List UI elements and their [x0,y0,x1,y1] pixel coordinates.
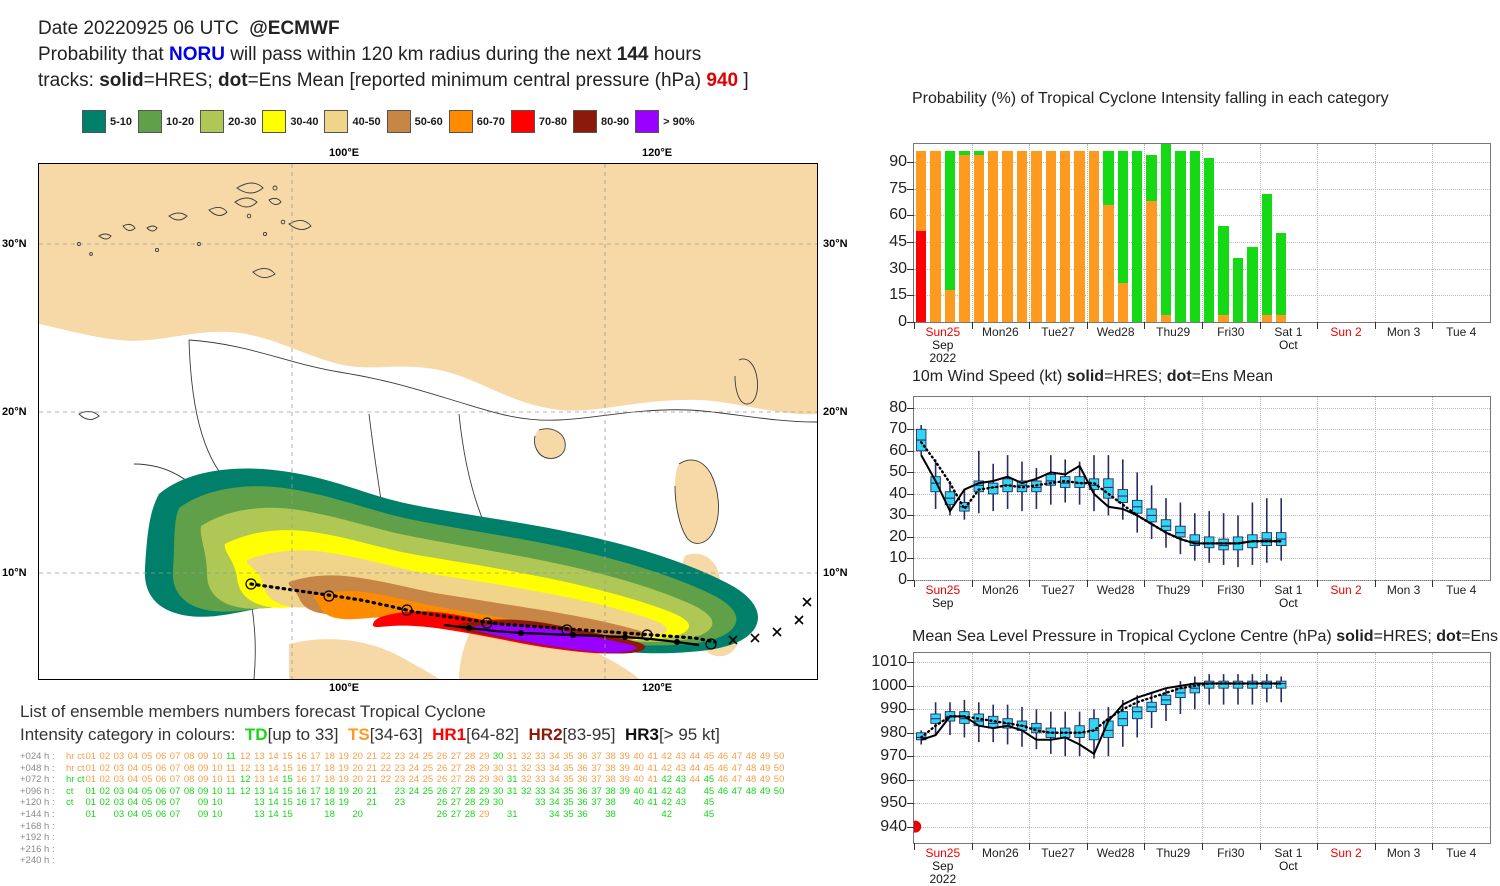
ens-member: 49 [760,763,774,775]
ens-row: +144 h :01 0304050607 0910 131415 18 20 … [20,809,870,821]
color-key-label: 50-60 [415,116,443,128]
ens-member: 46 [718,763,732,775]
ens-member: 46 [718,786,732,798]
y-axis-tick: 950 [880,794,907,812]
ens-row-label: +168 h : [20,821,66,833]
y-axis-tick: 10 [889,549,907,567]
probability-segment-ts [945,290,955,322]
probability-bar[interactable] [1074,144,1084,322]
ens-member: 27 [451,774,465,786]
mslp-plot[interactable]: 94095096097098099010001010Sun25Sep2022Mo… [913,652,1491,844]
ens-member: 31 [507,751,521,763]
ens-member [226,809,240,821]
probability-segment-ts [1046,151,1056,322]
x-axis-tick: Tue27 [1041,847,1075,860]
ens-cat-hr1: HR1[64-82] [427,725,523,744]
ens-member: 06 [156,809,170,821]
ens-member [380,809,394,821]
ens-member: 10 [212,751,226,763]
c2-series-layer [914,397,1490,580]
ens-member: 42 [661,774,675,786]
ens-member: 12 [240,786,254,798]
ens-member: 14 [268,763,282,775]
y-axis-tickmark [907,189,914,190]
ens-member: 09 [198,797,212,809]
ens-member: 45 [704,763,718,775]
color-key-item-50-60: 50-60 [387,110,443,133]
ens-member [690,786,704,798]
ens-member: 33 [535,774,549,786]
probability-bar[interactable] [1190,144,1200,322]
probability-bar[interactable] [1247,144,1257,322]
probability-segment-td [1161,144,1171,315]
ens-control-label: ct [66,786,86,798]
probability-bar[interactable] [1146,144,1156,322]
ens-row-label: +096 h : [20,786,66,798]
ens-member: 21 [366,751,380,763]
ens-member: 22 [380,751,394,763]
mslp-title-dot: dot [1436,628,1461,645]
ens-member: 35 [563,786,577,798]
ens-member: 16 [296,797,310,809]
y-axis-tick: 15 [889,286,907,304]
gridline-v [1432,144,1434,322]
x-axis-tick: Sun 2 [1330,847,1361,860]
ens-control-label: hr ct [66,751,86,763]
ens-member: 48 [746,774,760,786]
probability-bar[interactable] [1046,144,1056,322]
x-axis-tickmark [1144,843,1145,850]
x-axis-tick: Sat 1Oct [1274,847,1302,873]
y-axis-tick: 40 [889,485,907,503]
x-axis-tickmark [1260,580,1261,587]
y-axis-tickmark [907,558,914,559]
probability-segment-td [1190,151,1200,322]
color-key-label: > 90% [663,116,695,128]
x-axis-tickmark [1375,580,1376,587]
probability-segment-td [974,151,984,155]
box [1276,681,1286,688]
ens-member: 06 [156,751,170,763]
ens-member [760,809,774,821]
y-axis-tick: 960 [880,771,907,789]
ens-member: 43 [675,763,689,775]
ens-member [409,809,423,821]
ens-member [380,786,394,798]
intensity-probability-plot[interactable]: 0153045607590Sun25Sep2022Mon26Tue27Wed28… [913,143,1491,323]
ens-member: 09 [198,763,212,775]
probability-bar[interactable] [1089,144,1099,322]
x-axis-tick: Tue 4 [1446,847,1476,860]
ens-row-label: +072 h : [20,774,66,786]
y-axis-tick: 70 [889,420,907,438]
ens-member: 42 [661,797,675,809]
y-axis-tickmark [907,494,914,495]
ens-member: 42 [661,763,675,775]
ens-member [521,809,535,821]
x-axis-tick: Thu29 [1156,847,1190,860]
wind-title-end: =Ens Mean [1192,368,1273,385]
probability-segment-ts [1074,151,1084,322]
y-axis-tickmark [907,269,914,270]
ens-member [675,809,689,821]
probability-bar[interactable] [1233,144,1243,322]
probability-bar[interactable] [916,144,926,322]
ens-member: 16 [296,763,310,775]
box [1219,681,1229,688]
probability-bar[interactable] [1118,144,1128,322]
y-axis-tickmark [907,295,914,296]
mslp-title-mid: =HRES; [1374,628,1432,645]
ens-member: 34 [549,763,563,775]
y-axis-tick: 30 [889,506,907,524]
ens-member: 50 [774,774,788,786]
ens-member: 06 [156,774,170,786]
ens-member [619,797,633,809]
color-swatch [138,110,162,133]
ens-member: 40 [633,774,647,786]
ens-member: 20 [352,751,366,763]
ens-member [732,809,746,821]
ens-member [591,809,605,821]
ens-member: 32 [521,763,535,775]
ensemble-member-list: List of ensemble members numbers forecas… [20,700,870,867]
probability-segment-ts [959,155,969,322]
probability-segment-ts [1002,151,1012,322]
strike-probability-map[interactable]: 100°E 120°E 100°E 120°E 30°N 20°N 10°N 3… [38,163,818,680]
ens-member: 08 [184,774,198,786]
probability-bar[interactable] [1218,144,1228,322]
ens-member: 29 [479,774,493,786]
map-canvas [39,164,817,679]
ens-member: 05 [142,751,156,763]
ens-member: 01 [86,786,100,798]
map-lat-label-30n-right: 30°N [823,238,848,250]
ens-member: 03 [114,763,128,775]
y-axis-tickmark [907,408,914,409]
probability-text-c: hours [654,44,702,65]
probability-segment-td [1233,258,1243,322]
probability-bar[interactable] [1262,144,1272,322]
intensity-probability-chart: Probability (%) of Tropical Cyclone Inte… [912,90,1492,110]
ens-member [423,797,437,809]
centre-label: @ECMWF [249,18,339,39]
color-swatch [387,110,411,133]
ens-member: 04 [128,751,142,763]
ens-member: 05 [142,809,156,821]
ens-member: 09 [198,809,212,821]
mslp-title-end: =Ens Mean [1461,628,1500,645]
storm-name: NORU [169,44,225,65]
ens-member: 35 [563,774,577,786]
ens-member: 43 [675,751,689,763]
y-axis-tick: 50 [889,463,907,481]
ens-member: 28 [465,763,479,775]
probability-bar[interactable] [1132,144,1142,322]
ens-member [184,809,198,821]
color-swatch [635,110,659,133]
box [1176,526,1186,537]
ens-member [774,809,788,821]
ens-member: 36 [577,763,591,775]
probability-segment-ts [1103,205,1113,322]
ens-member: 10 [212,797,226,809]
color-key-item-70-80: 70-80 [511,110,567,133]
color-swatch [262,110,286,133]
ens-member: 41 [647,774,661,786]
x-axis-tick: Thu29 [1156,584,1190,597]
ens-member: 29 [479,751,493,763]
ens-member: 23 [395,751,409,763]
ens-mean-line [921,442,1281,543]
x-axis-tickmark [1029,843,1030,850]
wind-speed-plot[interactable]: 01020304050607080Sun25SepMon26Tue27Wed28… [913,396,1491,581]
ens-member: 40 [633,797,647,809]
header-line-tracks: tracks: solid=HRES; dot=Ens Mean [report… [38,68,878,94]
x-axis-tickmark [972,580,973,587]
c3-series-layer [914,653,1490,843]
ens-mean-line [921,683,1281,737]
color-key-item-5-10: 5-10 [82,110,132,133]
probability-bar[interactable] [1276,144,1286,322]
gridline-v [1375,144,1377,322]
map-lat-label-20n-right: 20°N [823,406,848,418]
ens-member: 17 [310,763,324,775]
ens-member: 26 [437,797,451,809]
color-key-label: 20-30 [228,116,256,128]
probability-bar[interactable] [974,144,984,322]
ens-row-label: +216 h : [20,844,66,856]
ens-member: 14 [268,751,282,763]
ens-member: 31 [507,763,521,775]
ens-member: 39 [619,786,633,798]
ens-member [774,797,788,809]
ens-member: 29 [479,786,493,798]
ens-control-label: ct [66,797,86,809]
probability-bar[interactable] [1161,144,1171,322]
ens-member: 17 [310,774,324,786]
ens-member: 03 [114,786,128,798]
probability-text-a: Probability that [38,44,164,65]
y-axis-tickmark [907,215,914,216]
probability-segment-ts [1146,201,1156,322]
color-key-item-60-70: 60-70 [449,110,505,133]
ens-row: +048 h :hr ct010203040506070809101112131… [20,763,870,775]
probability-segment-ts [1017,151,1027,322]
ens-member: 28 [465,786,479,798]
ens-member: 26 [437,763,451,775]
probability-bar[interactable] [1175,144,1185,322]
ens-member: 31 [507,786,521,798]
probability-segment-ts [974,155,984,322]
ens-member: 16 [296,751,310,763]
tracks-text-b: =HRES; [144,70,213,91]
wind-chart-title: 10m Wind Speed (kt) solid=HRES; dot=Ens … [912,368,1500,386]
ens-row: +120 h :ct01020304050607 0910 1314151617… [20,797,870,809]
ens-member: 01 [86,763,100,775]
y-axis-tickmark [907,429,914,430]
ens-member: 04 [128,809,142,821]
ens-member [507,797,521,809]
ens-category-legend: TD[up to 33] TS[34-63] HR1[64-82] HR2[83… [240,725,724,744]
solid-legend-label: solid [99,70,143,91]
probability-bar[interactable] [1031,144,1041,322]
ens-member: 12 [240,774,254,786]
ens-member: 07 [170,809,184,821]
x-axis-tick: Sun 2 [1330,326,1361,339]
probability-bar[interactable] [1002,144,1012,322]
x-axis-tick: Fri30 [1217,584,1244,597]
ens-member: 24 [409,774,423,786]
x-axis-tick: Sun 2 [1330,584,1361,597]
ens-member: 35 [563,797,577,809]
ens-member: 05 [142,786,156,798]
ens-member: 42 [661,786,675,798]
ens-row-label: +144 h : [20,809,66,821]
x-axis-tickmark [914,843,915,850]
header-line-date: Date 20220925 06 UTC @ECMWF [38,16,878,42]
intensity-chart-title: Probability (%) of Tropical Cyclone Inte… [912,90,1492,108]
probability-segment-td [1276,233,1286,315]
ens-member: 18 [324,763,338,775]
x-axis-tick: Mon26 [982,847,1019,860]
y-axis-tick: 0 [898,571,907,589]
probability-bar[interactable] [988,144,998,322]
color-key-item-80-90: 80-90 [573,110,629,133]
probability-segment-td [1132,151,1142,322]
probability-segment-ts [1031,151,1041,322]
x-axis-tickmark [1087,580,1088,587]
ens-row-label: +120 h : [20,797,66,809]
ens-member: 28 [465,809,479,821]
color-swatch [449,110,473,133]
ens-member [619,809,633,821]
ens-member: 10 [212,809,226,821]
probability-bar[interactable] [959,144,969,322]
x-axis-tick: Mon 3 [1387,326,1420,339]
y-axis-tick: 60 [889,442,907,460]
ens-member: 34 [549,786,563,798]
ens-member: 35 [563,809,577,821]
ens-member: 38 [605,751,619,763]
tracks-label: tracks: [38,70,94,91]
probability-bar[interactable] [1103,144,1113,322]
tracks-text-d: ] [743,70,748,91]
ens-member: 34 [549,809,563,821]
x-axis-tickmark [1432,322,1433,329]
x-axis-tickmark [1317,843,1318,850]
ens-member: 27 [451,751,465,763]
probability-bar[interactable] [1017,144,1027,322]
ens-member: 23 [395,797,409,809]
ens-member: 19 [338,786,352,798]
ens-member: 38 [605,797,619,809]
ens-member: 50 [774,763,788,775]
y-axis-tick: 940 [880,818,907,836]
ens-row-label: +240 h : [20,855,66,867]
y-axis-tick: 60 [889,206,907,224]
x-axis-tick: Thu29 [1156,326,1190,339]
ens-member: 14 [268,809,282,821]
ens-member: 45 [704,774,718,786]
ens-member: 15 [282,797,296,809]
x-axis-tickmark [1317,322,1318,329]
y-axis-tickmark [907,162,914,163]
color-swatch [573,110,597,133]
ens-member: 13 [254,763,268,775]
y-axis-tick: 90 [889,153,907,171]
ens-member: 01 [86,774,100,786]
x-axis-tickmark [1029,580,1030,587]
ens-member: 44 [690,763,704,775]
probability-bar[interactable] [945,144,955,322]
ens-member: 31 [507,809,521,821]
ens-member [521,797,535,809]
x-axis-tick: Wed28 [1097,584,1135,597]
ens-member: 04 [128,763,142,775]
ens-member: 37 [591,786,605,798]
ens-member: 19 [338,763,352,775]
ens-member: 45 [704,809,718,821]
x-axis-tick: Sat 1Oct [1274,326,1302,352]
x-axis-tickmark [914,322,915,329]
ens-member: 14 [268,797,282,809]
ens-member: 36 [577,786,591,798]
ens-member: 13 [254,751,268,763]
ens-member [760,797,774,809]
y-axis-tickmark [907,686,914,687]
probability-bar[interactable] [1060,144,1070,322]
probability-bar[interactable] [930,144,940,322]
map-lon-label-120e: 120°E [642,147,672,159]
wind-title-solid: solid [1067,368,1104,385]
ens-member: 28 [465,751,479,763]
color-key-item-30-40: 30-40 [262,110,318,133]
ens-member [380,797,394,809]
map-lon-label-100e-bottom: 100°E [329,682,359,694]
ens-member: 12 [240,763,254,775]
y-axis-tick: 80 [889,399,907,417]
ens-cat-hr2: HR2[83-95] [524,725,620,744]
ens-member: 03 [114,797,128,809]
ens-member: 32 [521,786,535,798]
probability-bar[interactable] [1204,144,1214,322]
ens-member: 03 [114,751,128,763]
ens-cat-hr3: HR3[> 95 kt] [620,725,724,744]
color-key-label: 5-10 [110,116,132,128]
ens-member [184,797,198,809]
ens-member: 18 [324,797,338,809]
y-axis-tickmark [907,803,914,804]
x-axis-tickmark [1029,322,1030,329]
ens-member: 37 [591,751,605,763]
probability-segment-ts [1276,315,1286,322]
ens-member: 11 [226,763,240,775]
ens-member: 19 [338,797,352,809]
ens-member: 35 [563,751,577,763]
x-axis-tick: Tue27 [1041,326,1075,339]
ens-member: 27 [451,809,465,821]
ens-member: 15 [282,774,296,786]
ens-member: 33 [535,763,549,775]
ens-member: 15 [282,786,296,798]
color-key-label: 60-70 [477,116,505,128]
ens-member: 38 [605,786,619,798]
ens-member: 10 [212,763,226,775]
color-swatch [511,110,535,133]
probability-segment-ts [1089,151,1099,322]
ens-member: 24 [409,751,423,763]
